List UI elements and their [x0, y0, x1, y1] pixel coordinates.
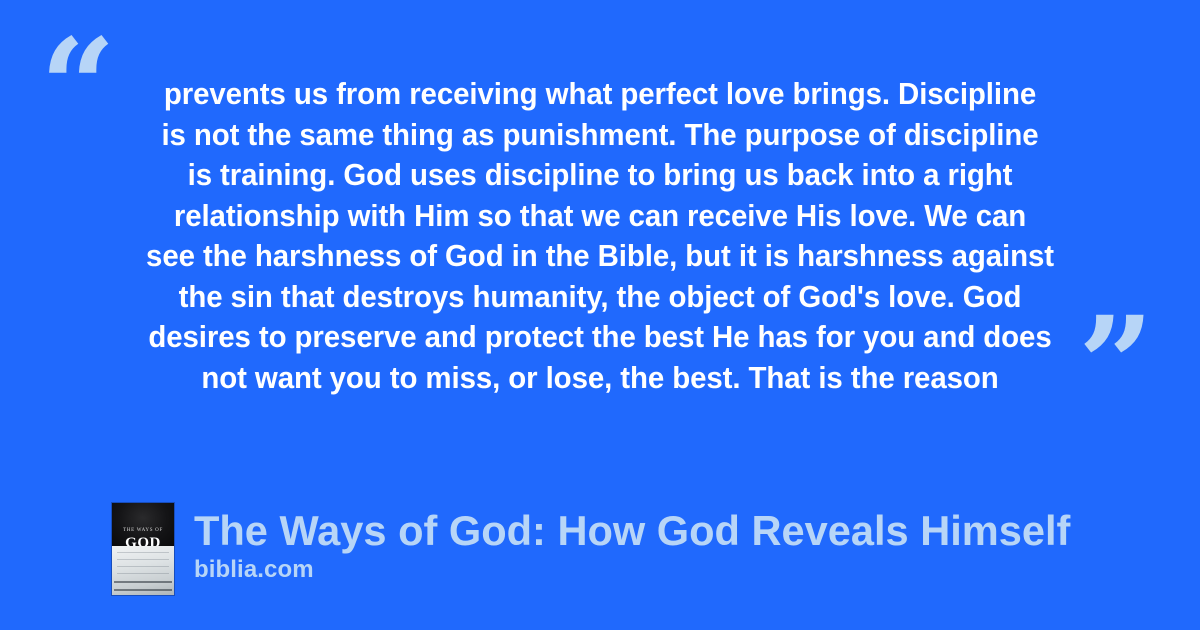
book-title[interactable]: The Ways of God: How God Reveals Himself	[194, 506, 1070, 555]
book-cover-authors	[114, 581, 171, 592]
quote-line: see the harshness of God in the Bible, b…	[118, 236, 1083, 277]
quote-text-block: prevents us from receiving what perfect …	[100, 74, 1100, 398]
footer-text-group: The Ways of God: How God Reveals Himself…	[194, 503, 1079, 585]
quote-line: desires to preserve and protect the best…	[118, 317, 1083, 358]
site-name[interactable]: biblia.com	[194, 555, 1079, 585]
closing-quote-icon: ”	[1078, 300, 1152, 432]
quote-line: the sin that destroys humanity, the obje…	[118, 277, 1083, 318]
book-cover-kicker: THE WAYS OF	[112, 528, 174, 533]
quote-line: relationship with Him so that we can rec…	[118, 196, 1083, 237]
book-cover-bottom-panel	[112, 546, 174, 595]
quote-card: “ prevents us from receiving what perfec…	[0, 0, 1200, 630]
book-cover-thumbnail: THE WAYS OF GOD	[112, 503, 174, 595]
quote-line: not want you to miss, or lose, the best.…	[118, 358, 1083, 399]
footer-attribution: THE WAYS OF GOD The Ways of God: How God…	[112, 503, 1079, 595]
quote-line: prevents us from receiving what perfect …	[118, 74, 1083, 115]
quote-line: is not the same thing as punishment. The…	[118, 115, 1083, 156]
quote-line: is training. God uses discipline to brin…	[118, 155, 1083, 196]
